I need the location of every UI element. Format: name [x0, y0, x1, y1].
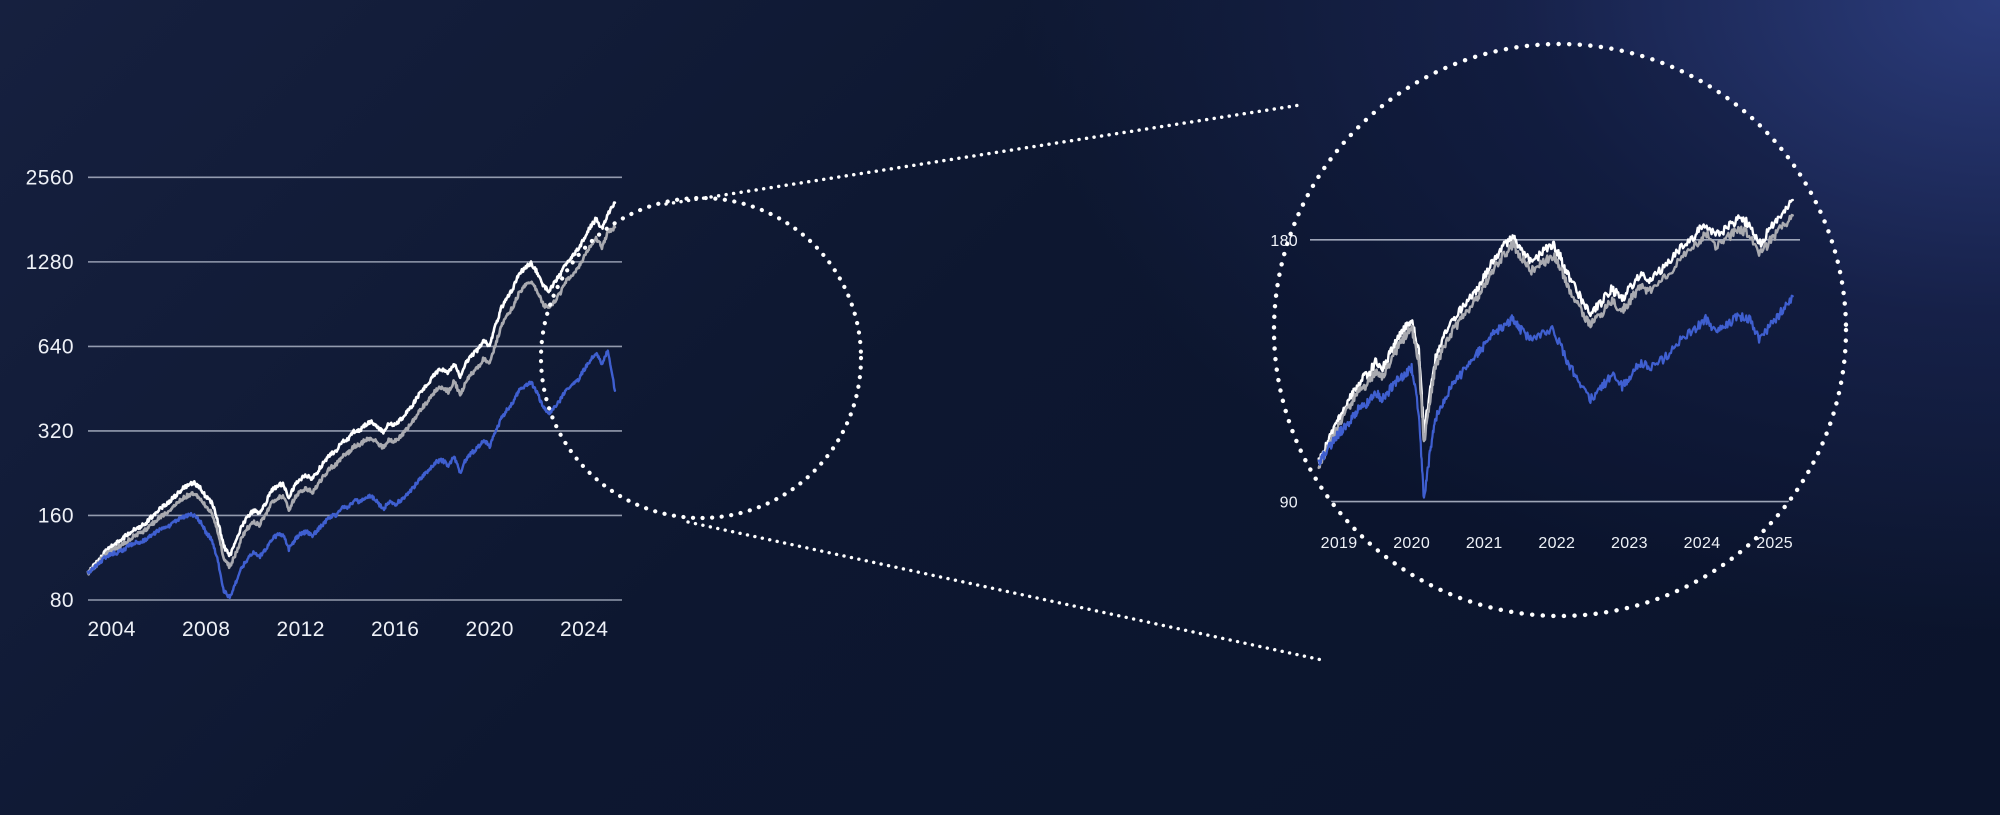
main-x-axis-labels: 200420082012201620202024 [87, 618, 608, 641]
inset-x-tick-label-2022: 2022 [1538, 535, 1575, 552]
x-tick-label-2012: 2012 [276, 618, 324, 641]
y-tick-label-640: 640 [38, 335, 74, 358]
y-tick-label-160: 160 [38, 504, 74, 527]
inset-x-tick-label-2019: 2019 [1321, 535, 1358, 552]
x-tick-label-2008: 2008 [182, 618, 230, 641]
main-y-axis-labels: 8016032064012802560 [26, 166, 74, 612]
zoom-connector-top-line [666, 105, 1300, 204]
series-line-series-blue [88, 351, 615, 598]
figure-canvas: 8016032064012802560 20042008201220162020… [0, 0, 2000, 815]
x-tick-label-2024: 2024 [560, 618, 608, 641]
x-tick-label-2016: 2016 [371, 618, 419, 641]
main-gridlines [88, 177, 622, 600]
x-tick-label-2020: 2020 [466, 618, 514, 641]
zoom-connector-bottom-line [688, 522, 1322, 660]
inset-backdrop [1274, 44, 1846, 616]
inset-y-tick-label-90: 90 [1280, 495, 1298, 512]
series-line-series-gray [88, 226, 615, 574]
inset-x-tick-label-2025: 2025 [1756, 535, 1793, 552]
inset-x-tick-label-2021: 2021 [1466, 535, 1503, 552]
y-tick-label-80: 80 [50, 589, 74, 612]
y-tick-label-1280: 1280 [26, 251, 74, 274]
chart-figure: 8016032064012802560 20042008201220162020… [0, 0, 2000, 815]
x-tick-label-2004: 2004 [87, 618, 135, 641]
main-chart: 8016032064012802560 20042008201220162020… [26, 166, 622, 641]
inset-x-tick-label-2024: 2024 [1684, 535, 1721, 552]
inset-x-tick-label-2020: 2020 [1393, 535, 1430, 552]
inset-x-tick-label-2023: 2023 [1611, 535, 1648, 552]
inset-y-tick-label-180: 180 [1270, 233, 1298, 250]
y-tick-label-320: 320 [38, 420, 74, 443]
magnified-inset: 90180 2019202020212022202320242025 [1270, 44, 1846, 616]
y-tick-label-2560: 2560 [26, 166, 74, 189]
